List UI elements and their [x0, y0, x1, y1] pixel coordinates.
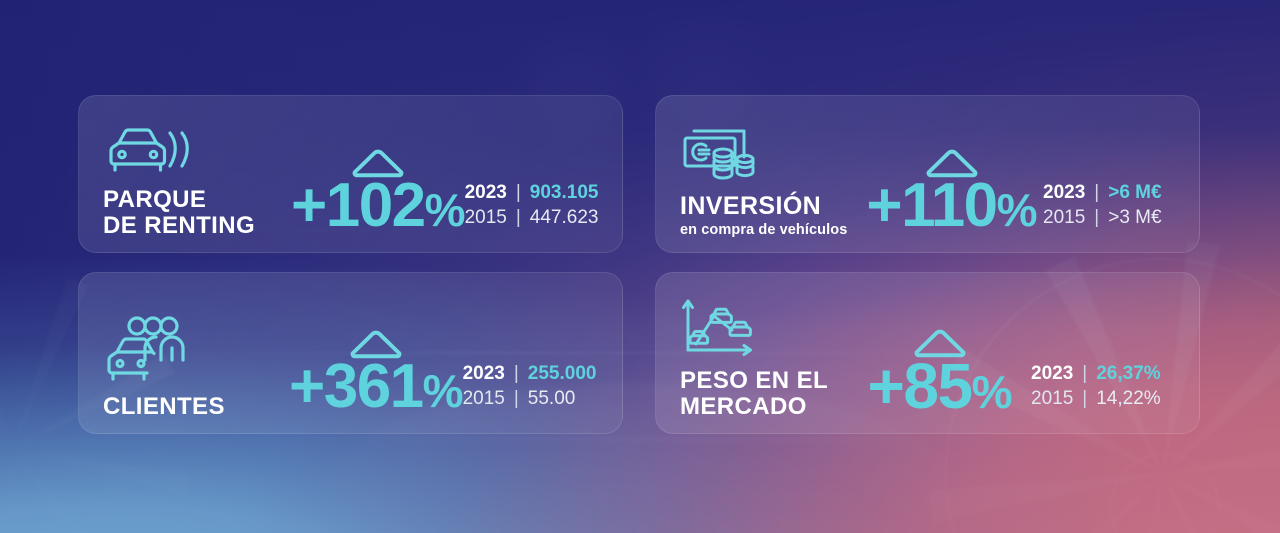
percentage-column: +102% [291, 146, 465, 238]
year-label: 2015 [465, 205, 507, 230]
card-title: CLIENTES [103, 394, 289, 419]
label-column: INVERSIÓN en compra de vehículos [680, 123, 858, 239]
value-label: 447.623 [530, 205, 599, 230]
value-label: 55.00 [528, 386, 576, 411]
values-column: 2023 | >6 M€ 2015 | >3 M€ [1043, 180, 1183, 238]
separator: | [505, 361, 528, 386]
percent-symbol: % [972, 366, 1012, 418]
year-label: 2015 [1031, 386, 1073, 411]
percent-symbol: % [997, 184, 1037, 236]
people-with-car-icon [103, 314, 289, 384]
stat-card-inversion: INVERSIÓN en compra de vehículos +110% 2… [655, 95, 1200, 253]
stat-card-parque-de-renting: PARQUE DE RENTING +102% 2023 | 903.105 2… [78, 95, 623, 253]
card-title: PARQUE DE RENTING [103, 187, 289, 238]
separator: | [507, 205, 530, 230]
car-with-motion-lines-icon [103, 121, 289, 177]
value-label: >6 M€ [1108, 180, 1161, 205]
chart-axis-cars-icon [680, 296, 848, 358]
value-label: 26,37% [1096, 361, 1160, 386]
card-title: INVERSIÓN [680, 193, 858, 220]
separator: | [1085, 180, 1108, 205]
percentage-value: +110% [866, 176, 1036, 236]
label-column: PARQUE DE RENTING [103, 121, 289, 238]
year-label: 2023 [465, 180, 507, 205]
label-column: PESO EN EL MERCADO [680, 296, 848, 419]
percentage-value: +85% [868, 356, 1012, 417]
values-column: 2023 | 255.000 2015 | 55.00 [463, 361, 615, 419]
year-label: 2015 [463, 386, 505, 411]
money-euro-icon [680, 123, 858, 183]
separator: | [1085, 205, 1108, 230]
values-column: 2023 | 903.105 2015 | 447.623 [465, 180, 617, 238]
percentage-number: +110 [866, 171, 996, 240]
percentage-number: +102 [291, 171, 425, 240]
percentage-number: +85 [868, 350, 972, 422]
card-title: PESO EN EL MERCADO [680, 368, 848, 419]
separator: | [1073, 386, 1096, 411]
percentage-column: +361% [289, 327, 463, 419]
separator: | [507, 180, 530, 205]
separator: | [1073, 361, 1096, 386]
value-row-2023: 2023 | 26,37% [1031, 361, 1183, 386]
value-row-2015: 2015 | 447.623 [465, 205, 617, 230]
value-row-2015: 2015 | 14,22% [1031, 386, 1183, 411]
year-label: 2015 [1043, 205, 1085, 230]
percentage-value: +102% [291, 176, 465, 236]
year-label: 2023 [1031, 361, 1073, 386]
stat-card-peso-en-el-mercado: PESO EN EL MERCADO +85% 2023 | 26,37% 20… [655, 272, 1200, 434]
value-row-2023: 2023 | 255.000 [463, 361, 615, 386]
value-row-2015: 2015 | >3 M€ [1043, 205, 1183, 230]
percentage-column: +85% [848, 326, 1031, 419]
percentage-value: +361% [289, 357, 463, 417]
value-row-2015: 2015 | 55.00 [463, 386, 615, 411]
percentage-number: +361 [289, 352, 423, 421]
percentage-column: +110% [860, 146, 1043, 238]
label-column: CLIENTES [103, 314, 289, 419]
stat-card-clientes: CLIENTES +361% 2023 | 255.000 2015 [78, 272, 623, 434]
value-label: 255.000 [528, 361, 597, 386]
values-column: 2023 | 26,37% 2015 | 14,22% [1031, 361, 1183, 419]
value-label: 14,22% [1096, 386, 1160, 411]
card-subtitle: en compra de vehículos [680, 222, 858, 238]
value-row-2023: 2023 | >6 M€ [1043, 180, 1183, 205]
year-label: 2023 [463, 361, 505, 386]
percent-symbol: % [425, 184, 465, 236]
value-row-2023: 2023 | 903.105 [465, 180, 617, 205]
value-label: >3 M€ [1108, 205, 1161, 230]
separator: | [505, 386, 528, 411]
percent-symbol: % [423, 365, 463, 417]
year-label: 2023 [1043, 180, 1085, 205]
value-label: 903.105 [530, 180, 599, 205]
